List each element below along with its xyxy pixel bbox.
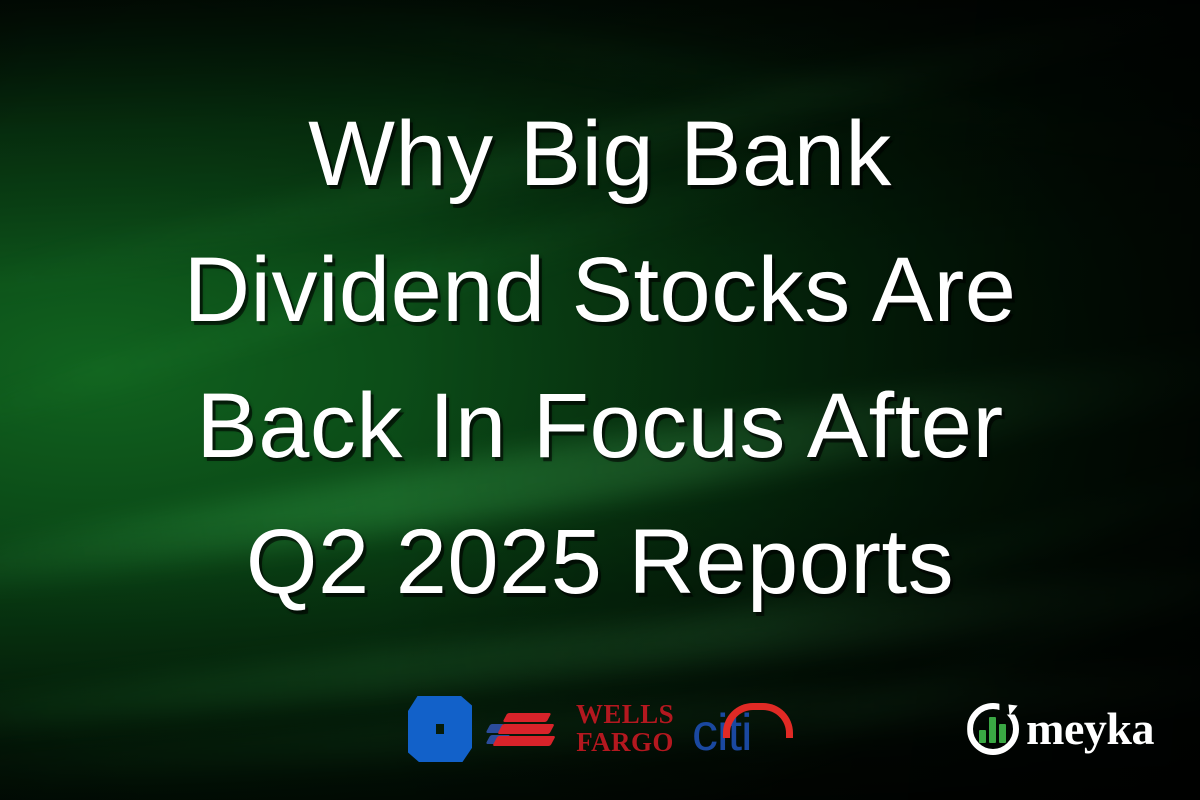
chase-quadrant-left: [408, 696, 436, 740]
citi-logo-icon: citi: [692, 699, 784, 759]
chase-logo-icon: [408, 696, 472, 762]
headline-line-1: Why Big Bank: [32, 86, 1168, 222]
headline-line-3: Back In Focus After: [32, 358, 1168, 494]
wells-fargo-logo-icon: WELLS FARGO: [576, 701, 674, 756]
meyka-bar-1: [979, 730, 986, 743]
bofa-red-bar: [492, 736, 555, 746]
wells-fargo-wordmark-line-1: WELLS: [576, 701, 674, 729]
meyka-brand-logo[interactable]: meyka: [967, 688, 1154, 770]
headline-line-2: Dividend Stocks Are: [32, 222, 1168, 358]
wells-fargo-wordmark-line-2: FARGO: [576, 729, 674, 757]
meyka-bar-3: [999, 724, 1006, 743]
logo-row: WELLS FARGO citi meyka: [0, 684, 1200, 774]
bank-logo-group: WELLS FARGO citi: [408, 684, 784, 774]
meyka-bar-2: [989, 717, 996, 743]
headline-line-4: Q2 2025 Reports: [32, 494, 1168, 630]
bofa-red-bar: [503, 713, 552, 722]
meyka-bar-chart-icon: [979, 717, 1009, 743]
bank-of-america-logo-icon: [486, 706, 558, 752]
meyka-wordmark: meyka: [1026, 706, 1154, 752]
page-title: Why Big Bank Dividend Stocks Are Back In…: [0, 86, 1200, 630]
meyka-logo-icon: [967, 703, 1019, 755]
bofa-red-bar: [497, 724, 554, 734]
article-banner-card: Why Big Bank Dividend Stocks Are Back In…: [0, 0, 1200, 800]
meyka-ring-arrow-icon: [1009, 704, 1019, 716]
